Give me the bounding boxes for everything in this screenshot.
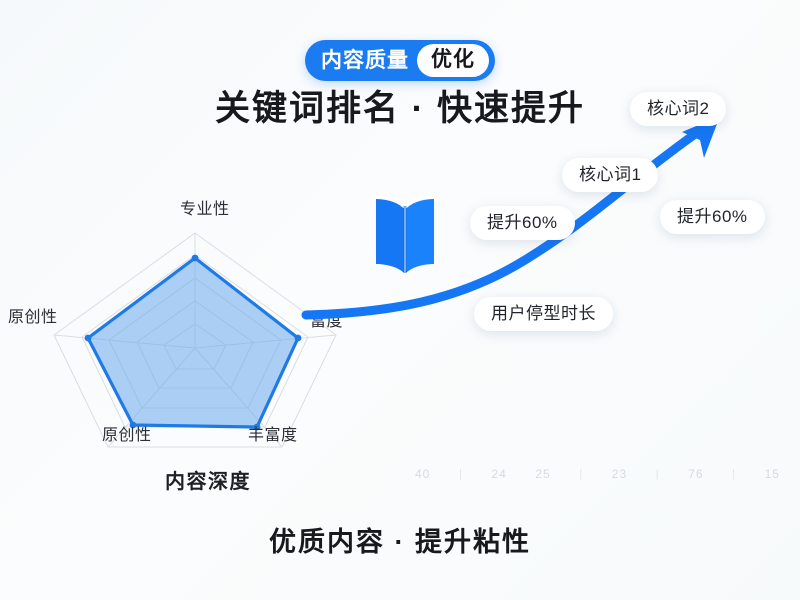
tick-value-3: 23 <box>612 467 627 481</box>
poster-canvas: 内容质量 优化 关键词排名 · 快速提升 <box>0 0 800 600</box>
tick-mark-1: | <box>579 468 583 480</box>
radar-axis-label-top: 专业性 <box>180 195 230 219</box>
callout-dwell-time: 用户停型时长 <box>474 297 613 331</box>
callout-core-keyword-1: 核心词1 <box>562 158 658 192</box>
callout-core-keyword-2: 核心词2 <box>630 92 726 126</box>
tick-strip: 40 | 24 25 | 23 | 76 | 15 <box>415 464 780 484</box>
callout-uplift-right: 提升60% <box>660 200 765 234</box>
tick-value-0: 40 <box>415 467 430 481</box>
caption-content-depth: 内容深度 <box>165 465 251 494</box>
badge-tag-label: 优化 <box>417 44 489 77</box>
tick-value-5: 15 <box>765 467 780 481</box>
badge-main-label: 内容质量 <box>321 50 417 71</box>
radar-axis-label-left: 原创性 <box>8 303 58 327</box>
tick-value-1: 24 <box>491 467 506 481</box>
radar-axis-label-bottom-left: 原创性 <box>102 421 152 445</box>
tick-value-4: 76 <box>688 467 703 481</box>
radar-axis-label-bottom-right: 丰富度 <box>248 421 298 445</box>
caption-bottom-slogan: 优质内容 · 提升粘性 <box>269 520 531 559</box>
tick-mark-2: | <box>656 468 660 480</box>
tick-value-2: 25 <box>535 467 550 481</box>
tick-mark-0: | <box>459 468 463 480</box>
header-badge: 内容质量 优化 <box>305 40 495 81</box>
radar-series-area <box>88 258 298 427</box>
callout-uplift-left: 提升60% <box>470 206 575 240</box>
tick-mark-3: | <box>732 468 736 480</box>
